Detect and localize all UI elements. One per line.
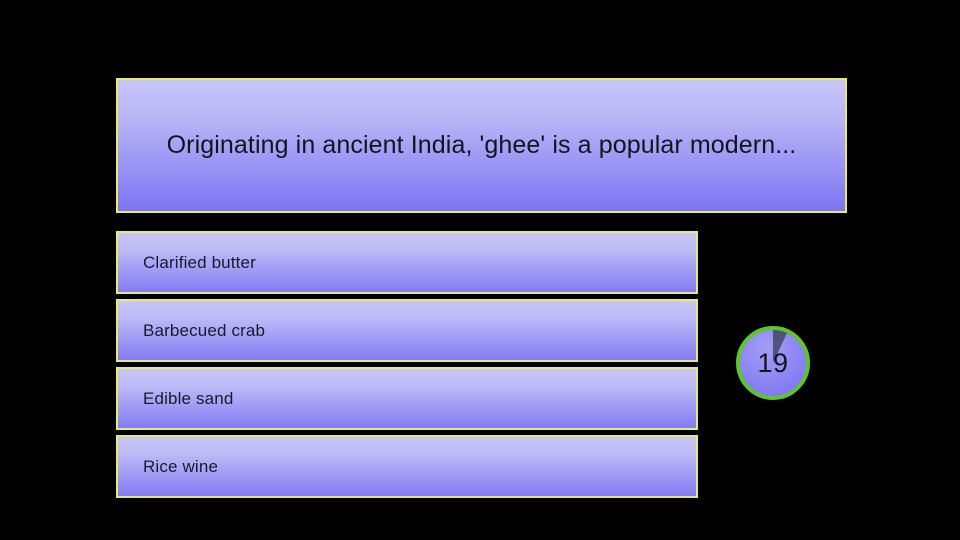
answer-option-2-label: Barbecued crab bbox=[118, 321, 265, 341]
answer-option-1-label: Clarified butter bbox=[118, 253, 256, 273]
question-text: Originating in ancient India, 'ghee' is … bbox=[147, 128, 816, 164]
answer-option-3-label: Edible sand bbox=[118, 389, 234, 409]
countdown-timer: 19 bbox=[734, 324, 812, 402]
answer-option-4[interactable]: Rice wine bbox=[116, 435, 698, 498]
answer-option-4-label: Rice wine bbox=[118, 457, 218, 477]
answer-option-2[interactable]: Barbecued crab bbox=[116, 299, 698, 362]
answer-options-list: Clarified butter Barbecued crab Edible s… bbox=[116, 231, 698, 498]
question-panel: Originating in ancient India, 'ghee' is … bbox=[116, 78, 847, 213]
answer-option-3[interactable]: Edible sand bbox=[116, 367, 698, 430]
timer-value: 19 bbox=[734, 324, 812, 402]
answer-option-1[interactable]: Clarified butter bbox=[116, 231, 698, 294]
quiz-stage: Originating in ancient India, 'ghee' is … bbox=[0, 0, 960, 540]
